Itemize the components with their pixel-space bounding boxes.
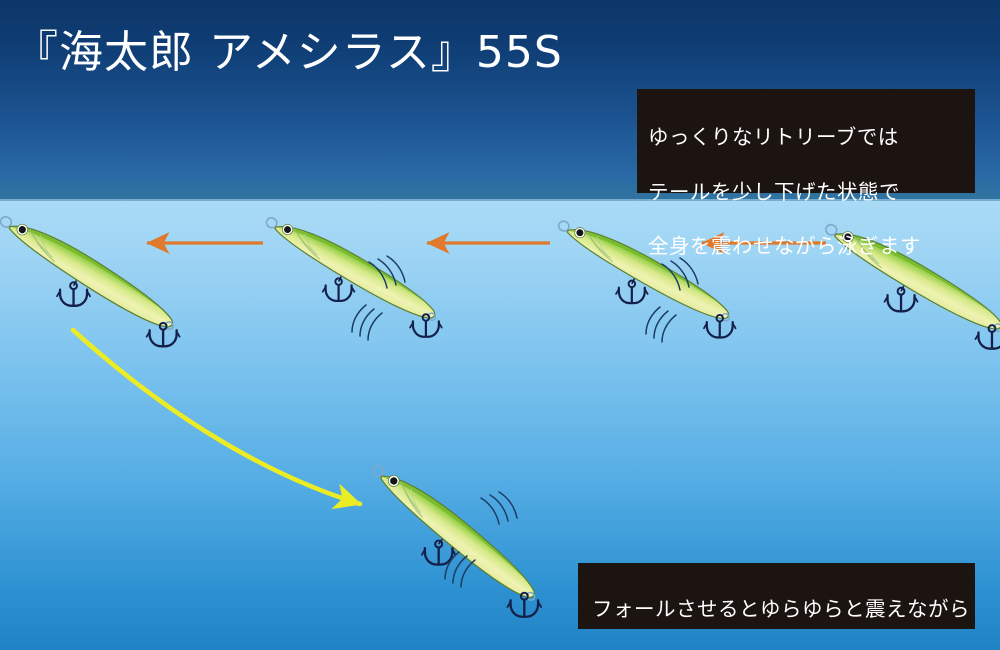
- caption-bottom-line-1: フォールさせるとゆらゆらと震えながら: [592, 596, 975, 623]
- caption-top-line-1: ゆっくりなリトリーブでは: [648, 124, 975, 151]
- treble-hook-front: [323, 278, 355, 301]
- swim-lure-2: [246, 212, 457, 357]
- caption-box-fall: フォールさせるとゆらゆらと震えながら “バックスライドフォール” します: [578, 563, 975, 629]
- swim-lure-1: [0, 210, 196, 367]
- caption-top-line-3: 全身を震わせながら泳ぎます: [648, 233, 975, 260]
- treble-hook-rear: [975, 325, 1000, 348]
- treble-hook-front: [616, 281, 648, 304]
- diagram-canvas: 『海太郎 アメシラス』55S: [0, 0, 1000, 650]
- caption-box-retrieve: ゆっくりなリトリーブでは テールを少し下げた状態で 全身を震わせながら泳ぎます: [637, 89, 975, 193]
- fall-lure: [344, 460, 560, 640]
- caption-top-line-2: テールを少し下げた状態で: [648, 179, 975, 206]
- treble-hook-front: [885, 288, 918, 311]
- backslide-fall-path: [73, 330, 360, 504]
